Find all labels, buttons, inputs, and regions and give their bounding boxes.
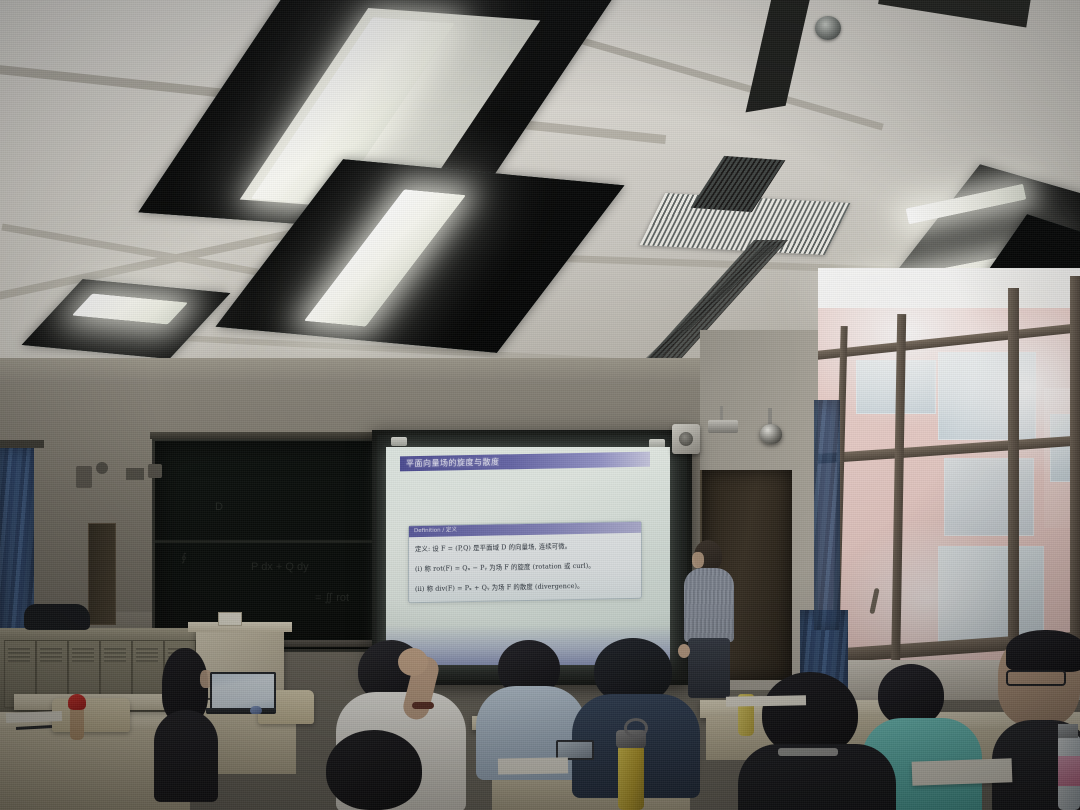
blackboard: ∮ P dx + Q dy = ∬ rot D xyxy=(152,438,408,652)
eyeglasses-icon xyxy=(1006,670,1066,686)
bottle-red-cap xyxy=(68,694,86,710)
notebook-right xyxy=(912,758,1013,785)
slide-line-curl: (i) 称 rot(F) = Qₓ − Pᵧ 为场 F 的旋度 (rotatio… xyxy=(415,561,595,573)
papers-right-desk xyxy=(726,695,806,706)
blackboard-divider xyxy=(155,540,399,543)
instructor-shirt xyxy=(684,568,734,642)
student-black-right xyxy=(738,672,898,810)
slide-title-bar: 平面向量场的旋度与散度 xyxy=(400,452,650,472)
slide-box-header-label: Definition / 定义 xyxy=(409,522,641,537)
bottle-yellow-loop xyxy=(624,718,648,738)
white-tee-bracelet xyxy=(412,702,434,709)
mouse-icon[interactable] xyxy=(250,706,262,714)
wall-bracket-4 xyxy=(148,464,162,478)
white-tee-hand xyxy=(398,648,428,676)
black-right-collar xyxy=(778,748,838,756)
bottle-water-cap xyxy=(1058,724,1078,738)
wall-bracket-3 xyxy=(126,468,144,480)
wall-speaker-icon xyxy=(672,424,700,454)
bottle-water-label xyxy=(1058,756,1080,786)
side-door[interactable] xyxy=(88,523,116,625)
bottle-red xyxy=(70,706,84,740)
slide-line-definition: 定义: 设 F = (P,Q) 是平面域 D 的向量场, 连续可微。 xyxy=(415,541,571,553)
curtain-right-2 xyxy=(814,400,840,630)
slide-surface: 平面向量场的旋度与散度 Definition / 定义 定义: 设 F = (P… xyxy=(386,447,670,665)
slide-definition-box: Definition / 定义 定义: 设 F = (P,Q) 是平面域 D 的… xyxy=(408,521,642,603)
window-post-4 xyxy=(1070,276,1080,676)
curtain-rod-left xyxy=(0,440,44,448)
wall-upper-band xyxy=(0,358,700,384)
wall-bracket-1 xyxy=(76,466,92,488)
laptop-girl-top xyxy=(154,710,218,802)
blackboard-top-rail xyxy=(150,432,406,439)
ceiling-beam-dark xyxy=(746,0,813,112)
student-front-dark xyxy=(316,730,456,810)
classroom-photo: ∮ P dx + Q dy = ∬ rot D 平面向量场的旋度与散度 Defi… xyxy=(0,0,1080,810)
projector-icon xyxy=(708,420,738,433)
dome-camera-icon xyxy=(760,424,782,444)
slide-box-header: Definition / 定义 xyxy=(409,522,641,537)
instructor-face xyxy=(692,552,704,568)
slide-title: 平面向量场的旋度与散度 xyxy=(400,456,500,469)
laptop-base xyxy=(206,708,276,714)
ceiling-beam-dark-2 xyxy=(878,0,1032,28)
bag-on-cabinet xyxy=(24,604,90,630)
notebook-center xyxy=(498,757,568,774)
ceiling-speaker-icon xyxy=(815,16,841,40)
laptop-screen xyxy=(210,672,276,712)
screen-knob-left xyxy=(391,437,407,446)
front-dark-head xyxy=(326,730,422,810)
window-post-3 xyxy=(1008,288,1019,678)
paper-left-desk xyxy=(6,711,62,723)
lectern-equipment xyxy=(218,612,242,626)
glasses-hair xyxy=(1006,630,1080,672)
slide-line-divergence: (ii) 称 div(F) = Pₓ + Qᵧ 为场 F 的散度 (diverg… xyxy=(415,581,584,593)
wall-bracket-2 xyxy=(96,462,108,474)
bottle-yellow xyxy=(618,744,644,810)
chair-left xyxy=(52,698,130,732)
